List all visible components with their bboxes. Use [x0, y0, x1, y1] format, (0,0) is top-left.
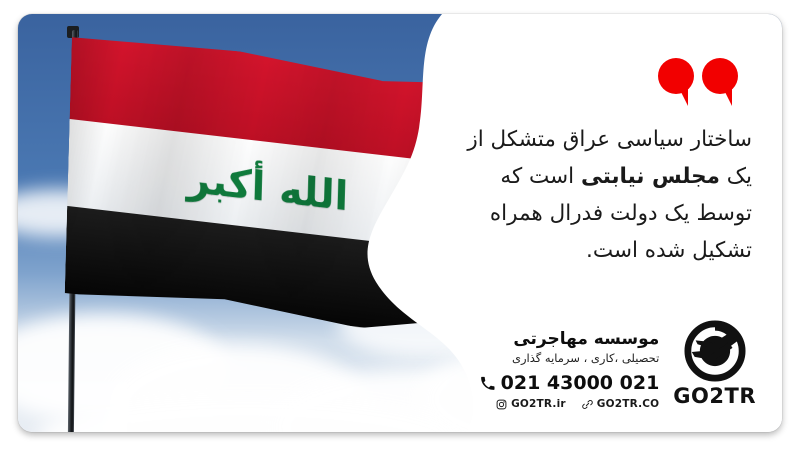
quote-line-3: توسط یک دولت فدرال همراه: [450, 196, 752, 233]
closing-quotation-mark-icon: [658, 58, 738, 112]
quote-tail-left: [667, 80, 688, 106]
quote-line-2-prefix: یک: [720, 164, 752, 189]
quote-card: الله أكبر ساختار سیاسی عراق متشکل از یک …: [18, 14, 782, 432]
quote-line-2-suffix: است که: [500, 164, 581, 189]
go2tr-airplane-circle-logo-icon: [684, 320, 746, 382]
quote-line-2-emphasis: مجلس نیابتی: [581, 164, 720, 189]
link-icon: [582, 399, 593, 410]
brand-phone-number: 021 43000 021: [501, 372, 660, 394]
instagram-handle-text: GO2TR.ir: [511, 398, 566, 410]
logo-wordmark: GO2TR: [673, 384, 756, 408]
website-link[interactable]: GO2TR.CO: [582, 398, 660, 410]
quote-text: ساختار سیاسی عراق متشکل از یک مجلس نیابت…: [450, 122, 752, 270]
brand-name: موسسه مهاجرتی: [480, 329, 660, 350]
instagram-icon: [496, 399, 507, 410]
quote-line-1: ساختار سیاسی عراق متشکل از: [450, 122, 752, 159]
quote-line-4: تشکیل شده است.: [450, 233, 752, 270]
brand-links: GO2TR.ir GO2TR.CO: [480, 398, 660, 410]
quote-line-2: یک مجلس نیابتی است که: [450, 159, 752, 196]
instagram-handle[interactable]: GO2TR.ir: [496, 398, 566, 410]
website-link-text: GO2TR.CO: [597, 398, 660, 410]
brand-footer: GO2TR موسسه مهاجرتی تحصیلی ،کاری ، سرمای…: [480, 320, 756, 410]
go2tr-logo[interactable]: GO2TR: [673, 320, 756, 410]
quote-tail-right: [711, 80, 732, 106]
brand-subtitle: تحصیلی ،کاری ، سرمایه گذاری: [480, 350, 660, 367]
brand-phone[interactable]: 021 43000 021: [480, 372, 660, 394]
brand-details: موسسه مهاجرتی تحصیلی ،کاری ، سرمایه گذار…: [480, 329, 660, 411]
phone-icon: [480, 376, 495, 391]
